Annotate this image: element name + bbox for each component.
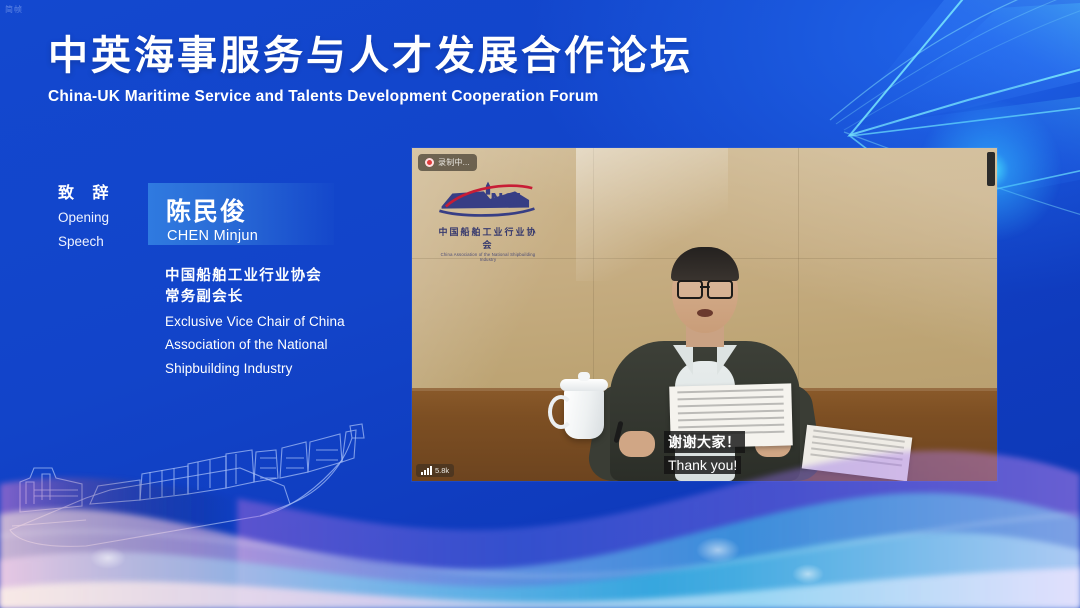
network-speed-label: 5.8k [435,466,449,475]
watermark-label: 简帧 [5,4,23,15]
affiliation-chinese-line1: 中国船舶工业行业协会 [165,266,405,287]
video-feed[interactable]: NSI 中国船舶工业行业协会 China Association of the … [412,148,997,481]
subtitle-english: Thank you! [664,456,741,474]
recording-indicator: 录制中... [418,154,477,171]
opening-speech-label: 致 辞 Opening Speech [58,183,150,253]
speaker-name-chinese: 陈民俊 [166,192,247,228]
container-ship-line-art [0,408,410,588]
title-english: China-UK Maritime Service and Talents De… [48,88,688,106]
cansi-logo-name-english: China Association of the National Shipbu… [434,252,542,262]
speech-label-english-line2: Speech [58,231,150,253]
cansi-logo-mark: NSI [434,178,542,222]
affiliation-english-line2: Association of the National [165,335,405,356]
svg-text:NSI: NSI [490,189,521,208]
subtitle-chinese: 谢谢大家！ [664,431,745,453]
video-scrollbar-thumb[interactable] [987,152,995,186]
cansi-logo: NSI 中国船舶工业行业协会 China Association of the … [434,178,542,262]
eyeglasses [677,280,733,295]
recording-label: 录制中... [438,157,470,168]
cansi-logo-name-chinese: 中国船舶工业行业协会 [434,225,542,251]
page-title: 中英海事服务与人才发展合作论坛 China-UK Maritime Servic… [48,34,688,106]
affiliation-english-line1: Exclusive Vice Chair of China [165,312,405,333]
affiliation-english-line3: Shipbuilding Industry [165,359,405,380]
record-dot-icon [425,158,434,167]
speaker-name-english: CHEN Minjun [167,228,258,244]
speech-label-chinese: 致 辞 [58,183,150,205]
subtitle-overlay: 谢谢大家！ Thank you! [664,431,745,475]
speech-label-english-line1: Opening [58,207,150,229]
speaker-affiliation: 中国船舶工业行业协会 常务副会长 Exclusive Vice Chair of… [165,266,405,379]
title-chinese: 中英海事服务与人才发展合作论坛 [48,34,688,79]
presentation-slide: 简帧 中英海事服务与人才发展合作论坛 China-UK Maritime Ser… [0,0,1080,608]
signal-bars-icon [421,466,432,475]
network-status-indicator: 5.8k [416,464,454,477]
affiliation-chinese-line2: 常务副会长 [165,287,405,308]
